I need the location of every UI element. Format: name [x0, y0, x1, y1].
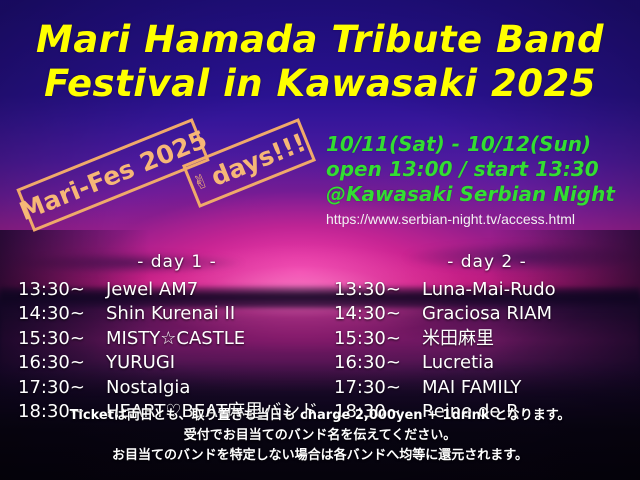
slot-time: 17:30~: [18, 376, 106, 401]
venue-access-link[interactable]: https://www.serbian-night.tv/access.html: [326, 209, 636, 230]
list-item: 15:30~ 米田麻里: [334, 327, 634, 352]
poster-title: Mari Hamada Tribute Band Festival in Kaw…: [0, 18, 640, 106]
list-item: 14:30~ Graciosa RIAM: [334, 302, 634, 327]
list-item: 13:30~ Luna-Mai-Rudo: [334, 278, 634, 303]
title-line-2: Festival in Kawasaki 2025: [0, 62, 640, 106]
slot-band: Graciosa RIAM: [422, 302, 552, 327]
list-item: 17:30~ Nostalgia: [18, 376, 318, 401]
slot-time: 13:30~: [18, 278, 106, 303]
event-venue: @Kawasaki Serbian Night: [326, 182, 636, 207]
slot-band: Shin Kurenai II: [106, 302, 235, 327]
list-item: 16:30~ YURUGI: [18, 351, 318, 376]
festival-poster: Mari Hamada Tribute Band Festival in Kaw…: [0, 0, 640, 480]
slot-band: MISTY☆CASTLE: [106, 327, 245, 352]
slot-time: 16:30~: [18, 351, 106, 376]
ticket-note-line-2: 受付でお目当てのバンド名を伝えてください。: [0, 426, 640, 446]
ticket-notes: Ticketは両日とも、取り置きも当日も charge 2,000yen + 1…: [0, 406, 640, 466]
slot-time: 15:30~: [334, 327, 422, 352]
slot-band: Jewel AM7: [106, 278, 198, 303]
slot-band: 米田麻里: [422, 327, 494, 352]
event-times: open 13:00 / start 13:30: [326, 157, 636, 182]
slot-band: YURUGI: [106, 351, 175, 376]
day2-heading: - day 2 -: [334, 250, 634, 275]
title-line-1: Mari Hamada Tribute Band: [0, 18, 640, 62]
event-info: 10/11(Sat) - 10/12(Sun) open 13:00 / sta…: [326, 132, 636, 230]
ticket-note-line-3: お目当てのバンドを特定しない場合は各バンドへ均等に還元されます。: [0, 446, 640, 466]
slot-time: 15:30~: [18, 327, 106, 352]
slot-time: 14:30~: [18, 302, 106, 327]
slot-time: 14:30~: [334, 302, 422, 327]
list-item: 16:30~ Lucretia: [334, 351, 634, 376]
slot-time: 13:30~: [334, 278, 422, 303]
ticket-note-line-1: Ticketは両日とも、取り置きも当日も charge 2,000yen + 1…: [0, 406, 640, 426]
slot-band: Lucretia: [422, 351, 494, 376]
list-item: 15:30~ MISTY☆CASTLE: [18, 327, 318, 352]
slot-time: 17:30~: [334, 376, 422, 401]
victory-hand-icon: ✌: [190, 169, 213, 195]
schedule-day1: - day 1 - 13:30~ Jewel AM7 14:30~ Shin K…: [18, 250, 318, 425]
slot-band: MAI FAMILY: [422, 376, 521, 401]
day1-heading: - day 1 -: [18, 250, 318, 275]
event-dates: 10/11(Sat) - 10/12(Sun): [326, 132, 636, 157]
list-item: 14:30~ Shin Kurenai II: [18, 302, 318, 327]
list-item: 13:30~ Jewel AM7: [18, 278, 318, 303]
schedule-day2: - day 2 - 13:30~ Luna-Mai-Rudo 14:30~ Gr…: [334, 250, 634, 425]
list-item: 17:30~ MAI FAMILY: [334, 376, 634, 401]
slot-band: Luna-Mai-Rudo: [422, 278, 556, 303]
slot-time: 16:30~: [334, 351, 422, 376]
slot-band: Nostalgia: [106, 376, 190, 401]
